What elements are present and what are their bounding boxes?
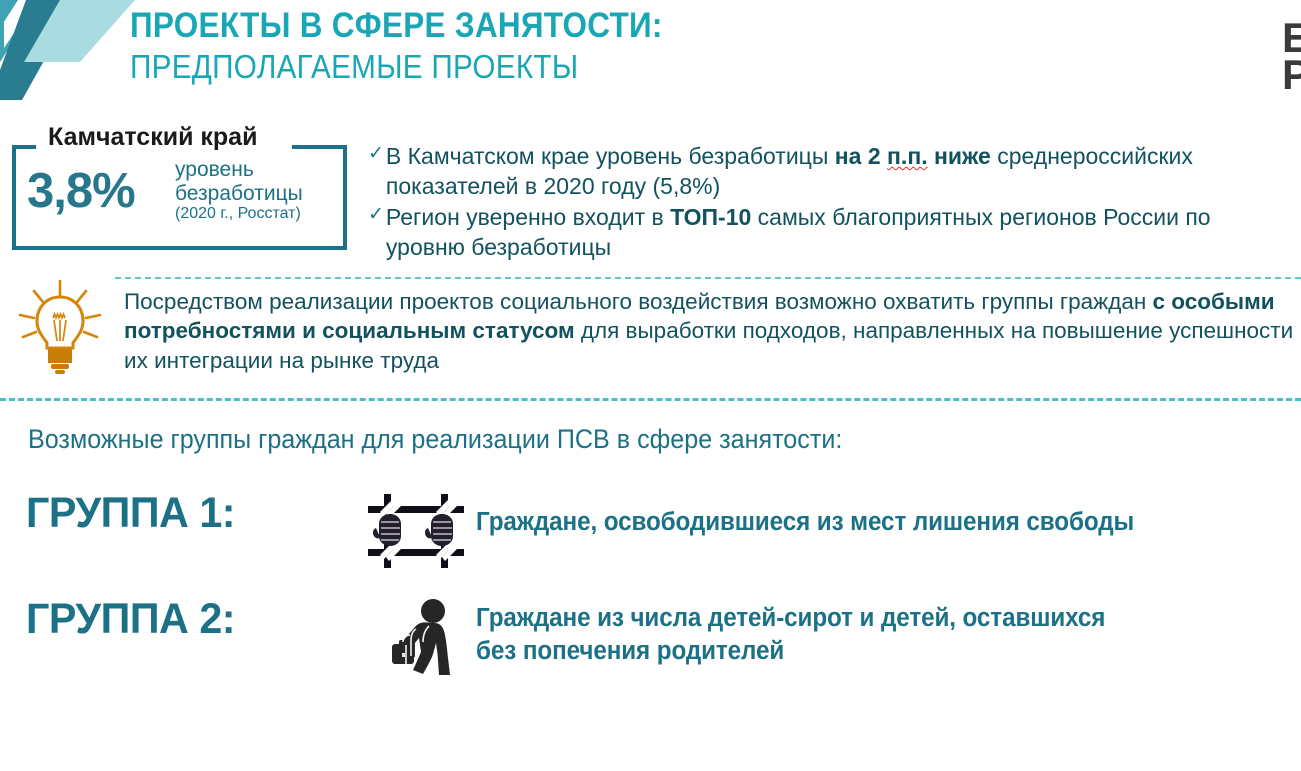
stat-desc-line2: безработицы bbox=[175, 182, 303, 206]
checkmark-icon: ✓ bbox=[368, 141, 384, 166]
corner-decoration bbox=[0, 0, 135, 100]
divider-dashed-bottom bbox=[0, 398, 1301, 401]
group-1-description: Граждане, освободившиеся из мест лишения… bbox=[476, 492, 1134, 539]
list-item: ✓ Регион уверенно входит в ТОП-10 самых … bbox=[368, 202, 1293, 263]
lightbulb-icon bbox=[12, 277, 108, 377]
bullet-text-1: В Камчатском крае уровень безработицы на… bbox=[386, 141, 1293, 202]
group-2-description: Граждане из числа детей-сирот и детей, о… bbox=[476, 598, 1105, 667]
emphasis-text: на 2 bbox=[835, 143, 887, 169]
stat-card-description: уровень безработицы (2020 г., Росстат) bbox=[175, 158, 303, 223]
body-text: Регион уверенно входит в bbox=[386, 204, 670, 230]
stat-desc-line1: уровень bbox=[175, 158, 303, 182]
body-text: В Камчатском крае уровень безработицы bbox=[386, 143, 835, 169]
stat-desc-source: (2020 г., Росстат) bbox=[175, 205, 303, 223]
divider-dashed-top bbox=[115, 277, 1301, 279]
slide-canvas: Е Р ПРОЕКТЫ В СФЕРЕ ЗАНЯТОСТИ: ПРЕДПОЛАГ… bbox=[0, 0, 1301, 771]
emphasis-text: ТОП-10 bbox=[670, 204, 751, 230]
stat-card-kamchatka: Камчатский край 3,8% уровень безработицы… bbox=[12, 145, 347, 250]
corner-logo: Е Р bbox=[1282, 20, 1301, 96]
group-row-2: ГРУППА 2: bbox=[26, 598, 1138, 678]
checkmark-icon: ✓ bbox=[368, 202, 384, 227]
bullet-text-2: Регион уверенно входит в ТОП-10 самых бл… bbox=[386, 202, 1293, 263]
page-title-line1: ПРОЕКТЫ В СФЕРЕ ЗАНЯТОСТИ: bbox=[130, 6, 663, 47]
person-with-suitcase-icon bbox=[372, 598, 460, 678]
group-2-icon-wrap bbox=[356, 598, 476, 678]
bullet-list: ✓ В Камчатском крае уровень безработицы … bbox=[368, 141, 1293, 262]
prison-bars-hands-icon bbox=[366, 492, 466, 570]
page-title: ПРОЕКТЫ В СФЕРЕ ЗАНЯТОСТИ: ПРЕДПОЛАГАЕМЫ… bbox=[130, 6, 722, 87]
group-row-1: ГРУППА 1: bbox=[26, 492, 1169, 570]
emphasis-text: ниже bbox=[928, 143, 991, 169]
list-item: ✓ В Камчатском крае уровень безработицы … bbox=[368, 141, 1293, 202]
group-1-label: ГРУППА 1: bbox=[26, 492, 343, 535]
page-title-line2: ПРЕДПОЛАГАЕМЫЕ ПРОЕКТЫ bbox=[130, 47, 663, 87]
body-text: Посредством реализации проектов социальн… bbox=[124, 289, 1153, 314]
group-2-label: ГРУППА 2: bbox=[26, 598, 343, 641]
emphasis-text: п.п. bbox=[887, 143, 928, 169]
group-1-icon-wrap bbox=[356, 492, 476, 570]
stat-card-value: 3,8% bbox=[27, 167, 135, 216]
stat-card-region-title: Камчатский край bbox=[40, 123, 265, 152]
insight-text: Посредством реализации проектов социальн… bbox=[124, 287, 1294, 375]
section-heading: Возможные группы граждан для реализации … bbox=[28, 423, 842, 455]
